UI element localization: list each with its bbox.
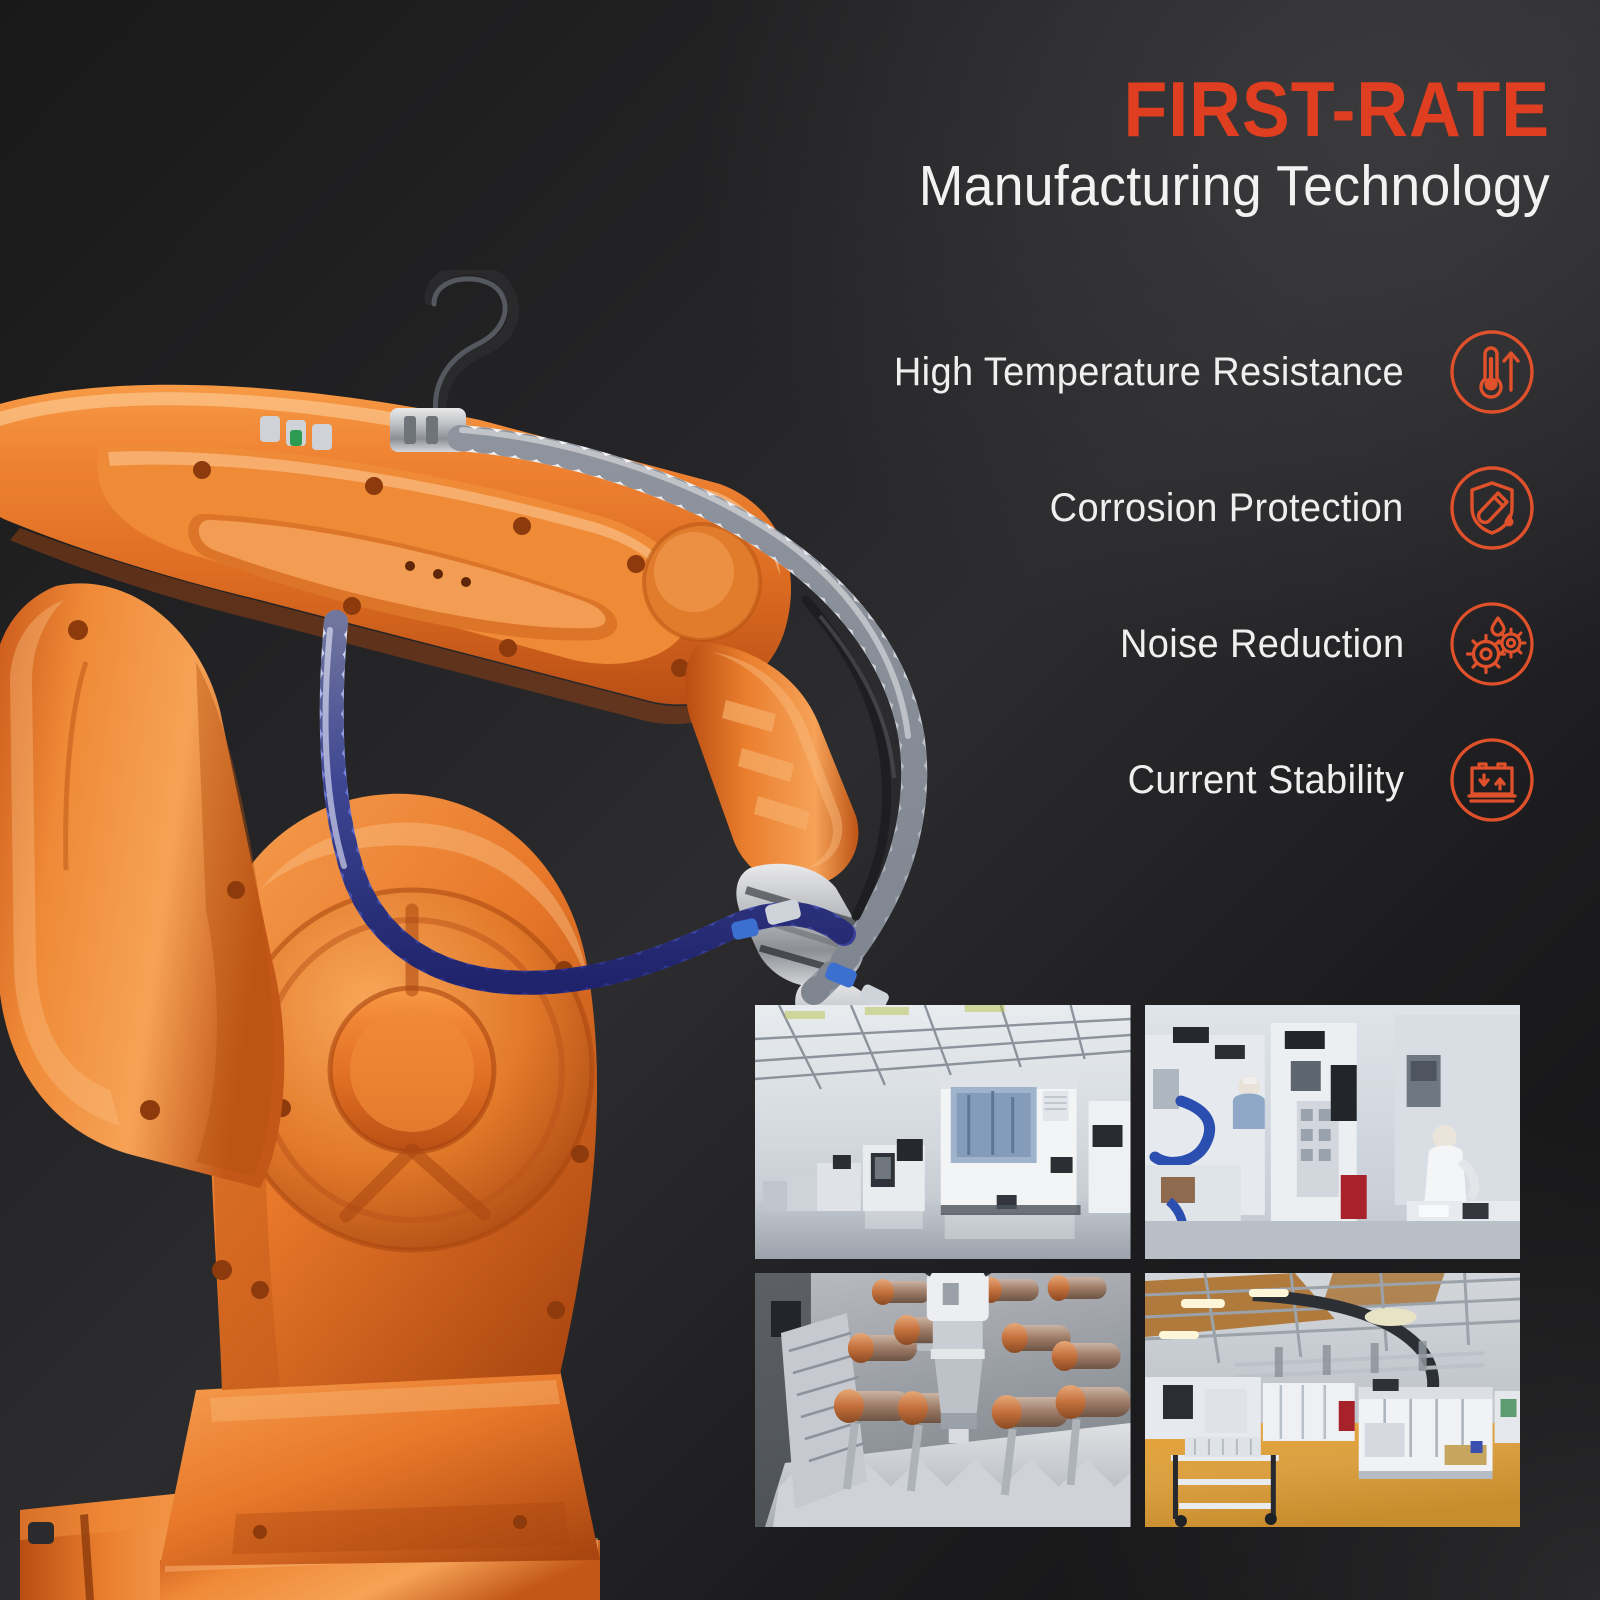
photo-cleanroom-lab xyxy=(1145,1005,1521,1259)
headline-block: FIRST-RATE Manufacturing Technology xyxy=(750,72,1550,219)
headline-primary: FIRST-RATE xyxy=(814,72,1550,147)
gears-droplet-icon xyxy=(1446,598,1538,690)
feature-item-current-stability[interactable]: Current Stability xyxy=(818,730,1538,830)
feature-list: High Temperature Resistance Corrosion Pr… xyxy=(818,322,1538,866)
thermometer-up-icon xyxy=(1446,326,1538,418)
feature-label: Noise Reduction xyxy=(1119,622,1404,667)
feature-item-noise-reduction[interactable]: Noise Reduction xyxy=(818,594,1538,694)
photo-motor-armatures xyxy=(755,1273,1131,1527)
feature-item-corrosion-protection[interactable]: Corrosion Protection xyxy=(818,458,1538,558)
feature-label: Corrosion Protection xyxy=(1050,486,1404,531)
shield-test-tube-icon xyxy=(1446,462,1538,554)
feature-label: High Temperature Resistance xyxy=(894,350,1404,395)
photo-factory-hall xyxy=(1145,1273,1521,1527)
feature-label: Current Stability xyxy=(1127,758,1404,803)
battery-cycle-icon xyxy=(1446,734,1538,826)
photo-grid xyxy=(755,1005,1520,1527)
photo-production-line xyxy=(755,1005,1131,1259)
promo-banner: FIRST-RATE Manufacturing Technology High… xyxy=(0,0,1600,1600)
headline-secondary: Manufacturing Technology xyxy=(798,155,1550,219)
feature-item-high-temperature-resistance[interactable]: High Temperature Resistance xyxy=(818,322,1538,422)
